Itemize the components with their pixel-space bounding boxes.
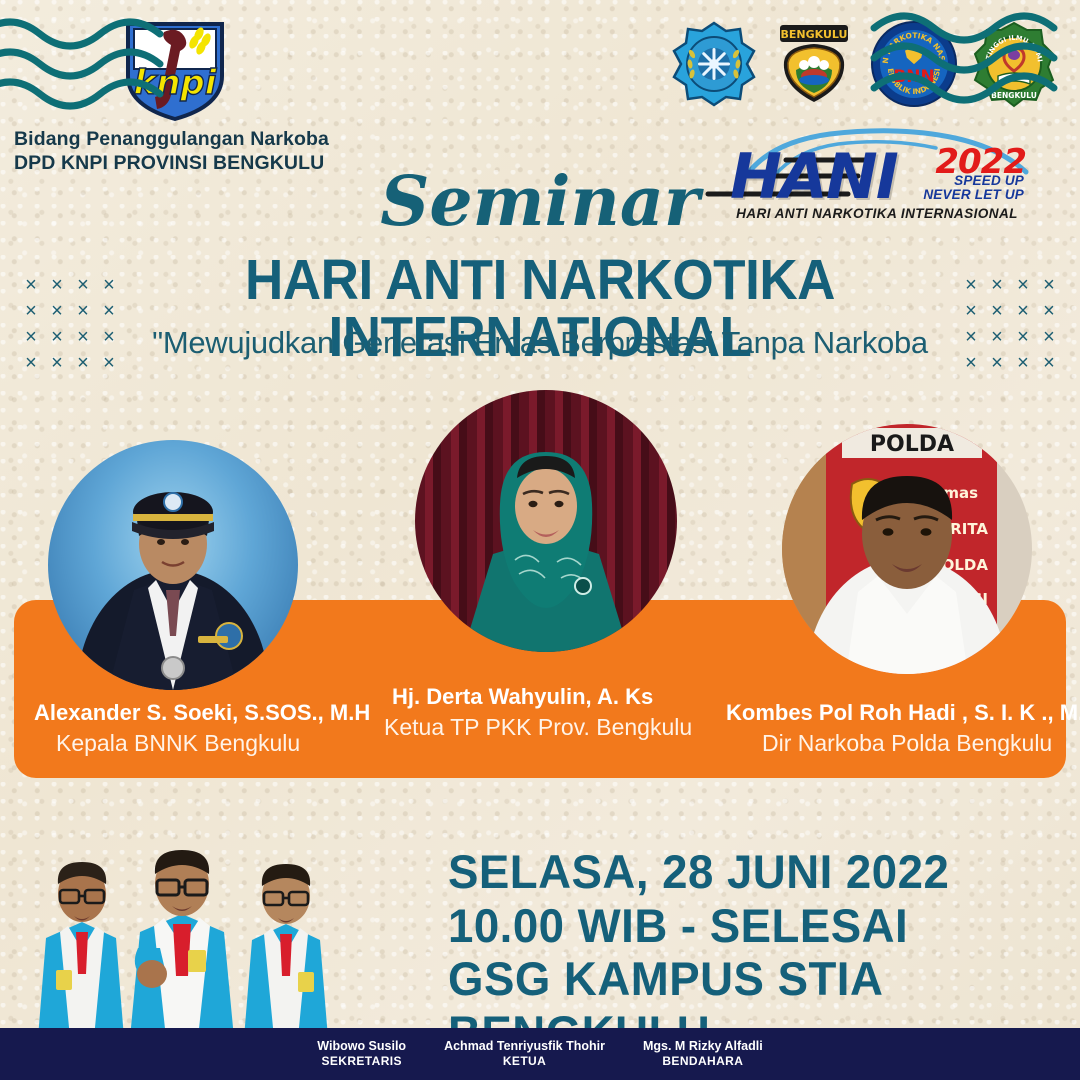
x-mark-icon: × (70, 298, 96, 324)
decor-waves-left (0, 8, 198, 118)
polda-banner-text: POLDA (870, 432, 954, 457)
seminar-eyebrow: Seminar (0, 168, 1080, 236)
x-mark-icon: × (96, 350, 122, 376)
speaker-photo-alexander (48, 440, 298, 690)
provinsi-emblem-icon (670, 20, 758, 108)
x-mark-icon: × (18, 272, 44, 298)
footer-person-1: Wibowo Susilo SEKRETARIS (317, 1039, 406, 1069)
decor-x-grid-left: ×××× ×××× ×××× ×××× (18, 272, 122, 376)
speaker-role-3: Dir Narkoba Polda Bengkulu (762, 730, 1052, 757)
speaker-portrait-2 (415, 390, 677, 652)
speaker-role-2: Ketua TP PKK Prov. Bengkulu (384, 714, 692, 741)
footer-person-name: Mgs. M Rizky Alfadli (643, 1039, 763, 1054)
x-mark-icon: × (1010, 298, 1036, 324)
x-mark-icon: × (96, 272, 122, 298)
x-mark-icon: × (1036, 272, 1062, 298)
organizer-line-1: Bidang Penanggulangan Narkoba (14, 128, 329, 151)
knpi-officials-photo (20, 798, 410, 1038)
page-subtitle: "Mewujudkan Generasi Emas Berprestasi Ta… (0, 325, 1080, 361)
speaker-name-2: Hj. Derta Wahyulin, A. Ks (392, 684, 653, 710)
footer-person-role: KETUA (444, 1054, 605, 1069)
x-mark-icon: × (44, 324, 70, 350)
speaker-name-3: Kombes Pol Roh Hadi , S. I. K ., M. H (726, 700, 1080, 726)
footer-person-2: Achmad Tenriyusfik Thohir KETUA (444, 1039, 605, 1069)
x-mark-icon: × (1036, 324, 1062, 350)
event-date: SELASA, 28 JUNI 2022 (448, 845, 1061, 899)
x-mark-icon: × (18, 350, 44, 376)
x-mark-icon: × (984, 324, 1010, 350)
decor-x-grid-right: ×××× ×××× ×××× ×××× (958, 272, 1062, 376)
x-mark-icon: × (1036, 350, 1062, 376)
x-mark-icon: × (958, 324, 984, 350)
footer-person-role: BENDAHARA (643, 1054, 763, 1069)
x-mark-icon: × (70, 350, 96, 376)
speaker-role-1: Kepala BNNK Bengkulu (56, 730, 300, 757)
x-mark-icon: × (1010, 324, 1036, 350)
footer-person-3: Mgs. M Rizky Alfadli BENDAHARA (643, 1039, 763, 1069)
provinsi-bengkulu-logo (670, 20, 758, 108)
speaker-photo-derta (415, 390, 677, 652)
x-mark-icon: × (70, 272, 96, 298)
x-mark-icon: × (1036, 298, 1062, 324)
official-right (244, 864, 328, 1038)
official-center (130, 850, 234, 1038)
speaker-photo-rohhadi: POLDA mas GRITA POLDA UIPSI (782, 424, 1032, 674)
x-mark-icon: × (44, 350, 70, 376)
footer-person-role: SEKRETARIS (317, 1054, 406, 1069)
x-mark-icon: × (958, 350, 984, 376)
footer-person-name: Achmad Tenriyusfik Thohir (444, 1039, 605, 1054)
x-mark-icon: × (18, 324, 44, 350)
x-mark-icon: × (1010, 272, 1036, 298)
x-mark-icon: × (984, 298, 1010, 324)
x-mark-icon: × (958, 272, 984, 298)
x-mark-icon: × (44, 298, 70, 324)
footer-bar: Wibowo Susilo SEKRETARIS Achmad Tenriyus… (0, 1028, 1080, 1080)
x-mark-icon: × (70, 324, 96, 350)
speaker-portrait-1 (48, 440, 298, 690)
x-mark-icon: × (984, 272, 1010, 298)
x-mark-icon: × (18, 298, 44, 324)
speaker-portrait-3: POLDA mas GRITA POLDA UIPSI (782, 424, 1032, 674)
x-mark-icon: × (984, 350, 1010, 376)
x-mark-icon: × (96, 298, 122, 324)
seminar-poster: knpi Bidang Penanggulangan Narkoba DPD K… (0, 0, 1080, 1080)
polda-bengkulu-logo: BENGKULU (770, 20, 858, 108)
footer-person-name: Wibowo Susilo (317, 1039, 406, 1054)
x-mark-icon: × (958, 298, 984, 324)
polda-label: BENGKULU (781, 28, 848, 41)
x-mark-icon: × (44, 272, 70, 298)
decor-waves-right (882, 2, 1080, 112)
speaker-name-1: Alexander S. Soeki, S.SOS., M.H (34, 700, 370, 726)
x-mark-icon: × (96, 324, 122, 350)
event-time: 10.00 WIB - SELESAI (448, 899, 1061, 953)
polda-shield-icon: BENGKULU (770, 20, 858, 108)
x-mark-icon: × (1010, 350, 1036, 376)
official-left (38, 862, 124, 1038)
